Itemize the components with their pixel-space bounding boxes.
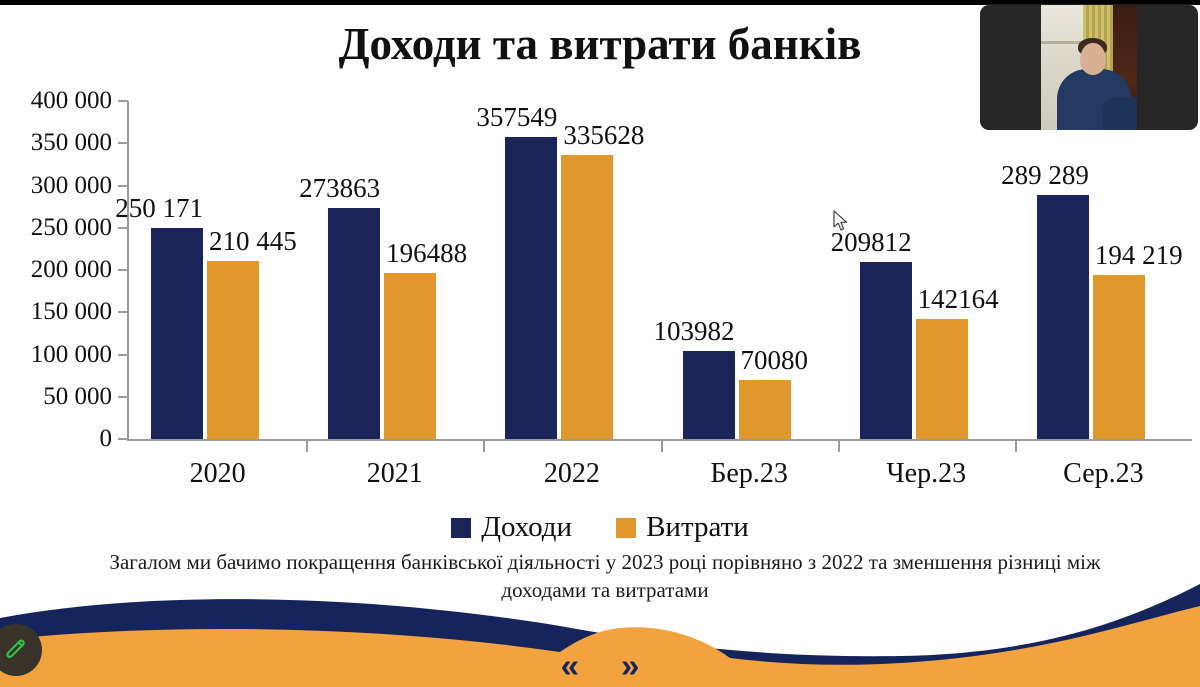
pen-icon — [3, 637, 29, 663]
y-axis-tick-label: 250 000 — [31, 214, 112, 242]
bar-vytraty[interactable] — [739, 380, 791, 439]
bar-group: 357549335628 — [483, 101, 660, 439]
bar-vytraty[interactable] — [916, 319, 968, 439]
y-axis-tick — [118, 354, 128, 356]
bar-vytraty[interactable] — [207, 261, 259, 439]
x-axis-tick-label: 2020 — [190, 458, 246, 490]
chart-legend: ДоходиВитрати — [0, 511, 1200, 544]
y-axis-tick — [118, 142, 128, 144]
legend-item-dohody[interactable]: Доходи — [451, 511, 572, 544]
x-axis-category-separator — [306, 441, 308, 452]
bar-group: 250 171210 445 — [129, 101, 306, 439]
webcam-video-feed — [1041, 5, 1137, 130]
y-axis-tick — [118, 396, 128, 398]
legend-label: Доходи — [481, 511, 572, 544]
bar-chart: 400 000350 000300 000250 000200 000150 0… — [0, 93, 1200, 553]
x-axis-tick-label: 2022 — [544, 458, 600, 490]
bar-dohody[interactable] — [860, 262, 912, 439]
y-axis-tick-label: 0 — [100, 425, 113, 453]
bar-value-label: 196488 — [386, 240, 467, 267]
legend-swatch-icon — [451, 518, 471, 538]
bar-dohody[interactable] — [683, 351, 735, 439]
bar-value-label: 142164 — [918, 286, 999, 313]
x-axis-tick-label: Бер.23 — [710, 458, 788, 490]
bar-vytraty[interactable] — [561, 155, 613, 439]
bar-group: 10398270080 — [661, 101, 838, 439]
x-axis-tick-label: Чер.23 — [886, 458, 966, 490]
plot-area: 250 171210 44527386319648835754933562810… — [129, 101, 1192, 439]
bar-group: 209812142164 — [838, 101, 1015, 439]
x-axis-category-separator — [483, 441, 485, 452]
y-axis-tick-label: 200 000 — [31, 256, 112, 284]
y-axis-tick-label: 150 000 — [31, 298, 112, 326]
bar-value-label: 250 171 — [115, 195, 203, 222]
y-axis-tick — [118, 269, 128, 271]
bar-value-label: 289 289 — [1001, 162, 1089, 189]
x-axis-category-separator — [661, 441, 663, 452]
x-axis-category-separator — [1015, 441, 1017, 452]
x-axis-tick-label: Сер.23 — [1063, 458, 1143, 490]
y-axis-tick — [118, 311, 128, 313]
y-axis-tick — [118, 100, 128, 102]
legend-item-vytraty[interactable]: Витрати — [616, 511, 749, 544]
y-axis-tick-label: 400 000 — [31, 87, 112, 115]
previous-slide-button[interactable]: « — [561, 649, 579, 682]
webcam-overlay[interactable] — [980, 5, 1198, 130]
webcam-person-head — [1080, 43, 1106, 75]
bar-vytraty[interactable] — [384, 273, 436, 439]
bar-value-label: 194 219 — [1095, 242, 1183, 269]
bar-value-label: 210 445 — [209, 228, 297, 255]
legend-swatch-icon — [616, 518, 636, 538]
slide-navigation: « » — [0, 649, 1200, 682]
x-axis-tick-label: 2021 — [367, 458, 423, 490]
bar-group: 289 289194 219 — [1015, 101, 1192, 439]
y-axis-tick — [118, 185, 128, 187]
bar-vytraty[interactable] — [1093, 275, 1145, 439]
webcam-person-arm — [1103, 97, 1137, 130]
bar-dohody[interactable] — [151, 228, 203, 439]
webcam-bg-wall-trim — [1041, 41, 1083, 44]
legend-label: Витрати — [646, 511, 749, 544]
bar-dohody[interactable] — [328, 208, 380, 439]
x-axis-category-separator — [838, 441, 840, 452]
y-axis-tick-label: 50 000 — [43, 383, 112, 411]
y-axis-labels: 400 000350 000300 000250 000200 000150 0… — [0, 93, 112, 438]
bar-dohody[interactable] — [505, 137, 557, 439]
y-axis-tick — [118, 438, 128, 440]
bar-value-label: 357549 — [476, 104, 557, 131]
next-slide-button[interactable]: » — [621, 649, 639, 682]
x-axis-line — [127, 439, 1192, 441]
bar-dohody[interactable] — [1037, 195, 1089, 439]
y-axis-tick-label: 350 000 — [31, 129, 112, 157]
bar-value-label: 103982 — [654, 318, 735, 345]
bar-value-label: 70080 — [741, 347, 809, 374]
y-axis-tick — [118, 227, 128, 229]
bar-value-label: 335628 — [563, 122, 644, 149]
x-axis-labels: 202020212022Бер.23Чер.23Сер.23 — [129, 458, 1192, 498]
y-axis-tick-label: 100 000 — [31, 341, 112, 369]
bar-value-label: 273863 — [299, 175, 380, 202]
y-axis-tick-label: 300 000 — [31, 172, 112, 200]
bar-value-label: 209812 — [831, 229, 912, 256]
bar-group: 273863196488 — [306, 101, 483, 439]
